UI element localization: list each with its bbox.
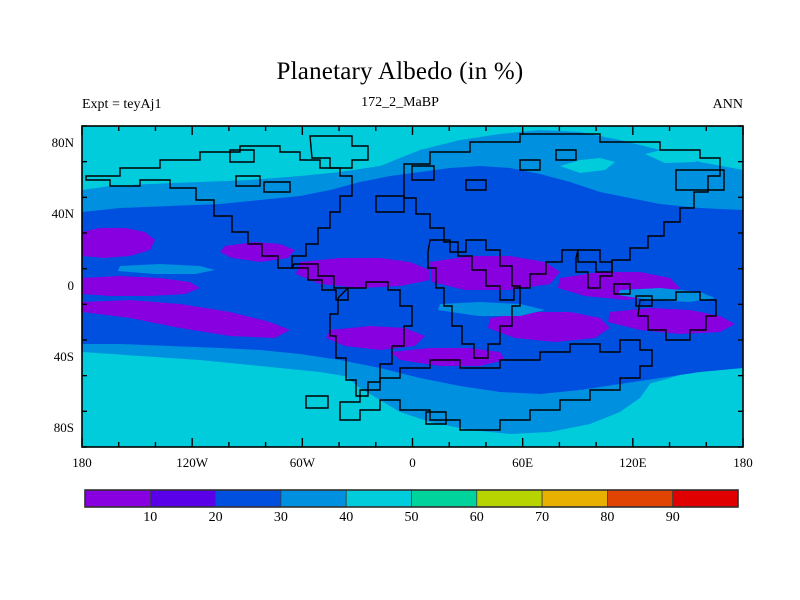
y-axis-tick-label: 0: [14, 278, 74, 294]
colorbar-tick-label: 20: [196, 510, 236, 526]
colorbar-band-20-30: [216, 490, 281, 507]
x-axis-tick-label: 120W: [157, 455, 227, 471]
colorbar-tick-label: 80: [587, 510, 627, 526]
colorbar-tick-label: 70: [522, 510, 562, 526]
x-axis-tick-label: 60W: [267, 455, 337, 471]
x-axis-tick-label: 180: [708, 455, 778, 471]
y-axis-tick-label: 80N: [14, 135, 74, 151]
colorbar-tick-label: 10: [130, 510, 170, 526]
y-axis-tick-label: 80S: [14, 420, 74, 436]
colorbar-band-10-20: [150, 490, 215, 507]
colorbar-band-50-60: [412, 490, 477, 507]
albedo-map-figure: Planetary Albedo (in %) 172_2_MaBP Expt …: [0, 0, 800, 600]
y-axis-tick-label: 40S: [14, 349, 74, 365]
colorbar-band-80-90: [607, 490, 672, 507]
colorbar-band-60-70: [477, 490, 542, 507]
colorbar-tick-label: 50: [392, 510, 432, 526]
colorbar-band-70-80: [542, 490, 607, 507]
x-axis-tick-label: 180: [47, 455, 117, 471]
colorbar-tick-label: 40: [326, 510, 366, 526]
y-axis-tick-label: 40N: [14, 206, 74, 222]
colorbar-band-40-50: [346, 490, 411, 507]
x-axis-tick-label: 60E: [488, 455, 558, 471]
colorbar-tick-label: 30: [261, 510, 301, 526]
colorbar-band-90-100: [673, 490, 738, 507]
colorbar-band-30-40: [281, 490, 346, 507]
colorbar-tick-label: 60: [457, 510, 497, 526]
colorbar-band-0-10: [85, 490, 150, 507]
colorbar: [85, 490, 738, 507]
x-axis-tick-label: 120E: [598, 455, 668, 471]
colorbar-tick-label: 90: [653, 510, 693, 526]
x-axis-tick-label: 0: [378, 455, 448, 471]
